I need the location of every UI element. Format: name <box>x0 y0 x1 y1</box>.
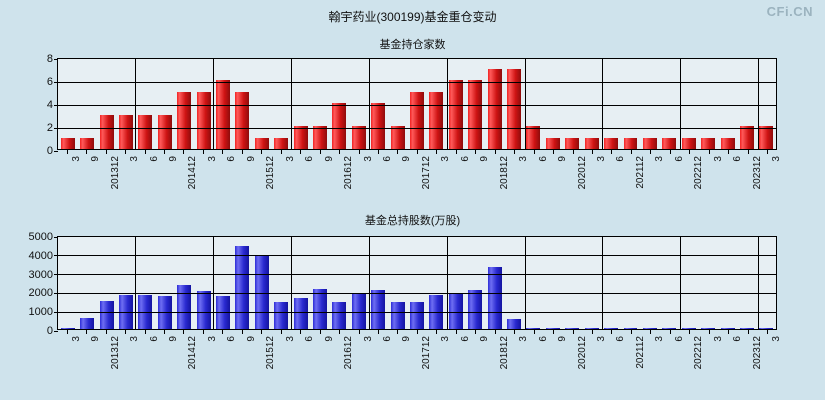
x-axis-tick: 9 <box>543 330 562 376</box>
bar <box>585 328 599 329</box>
bar <box>546 328 560 329</box>
bar <box>449 80 463 149</box>
bar <box>410 302 424 329</box>
x-axis-tick-mark <box>514 330 515 334</box>
bar <box>526 126 540 149</box>
x-axis-tick: 201412 <box>174 330 193 376</box>
gridline-vertical <box>213 59 214 149</box>
x-axis-tick: 9 <box>76 330 95 376</box>
x-axis-tick-mark <box>475 150 476 154</box>
x-axis-tick: 9 <box>232 330 251 376</box>
x-axis-tick-mark <box>67 330 68 334</box>
x-axis-tick: 6 <box>602 330 621 376</box>
bar <box>682 138 696 150</box>
x-axis-tick-mark <box>611 330 612 334</box>
bar-slot <box>582 237 601 329</box>
bar <box>100 301 114 329</box>
bar <box>740 328 754 329</box>
bar <box>604 138 618 150</box>
x-axis-tick-mark <box>534 330 535 334</box>
x-axis-tick-mark <box>183 330 184 334</box>
x-axis-tick-mark <box>456 330 457 334</box>
x-axis-tick-mark <box>67 150 68 154</box>
x-axis-tick: 202012 <box>563 330 582 376</box>
x-axis-tick-mark <box>397 150 398 154</box>
x-axis-tick: 9 <box>388 330 407 376</box>
x-axis-tick: 6 <box>368 150 387 196</box>
bar-slot <box>524 237 543 329</box>
x-axis-tick-mark <box>339 330 340 334</box>
bar-slot <box>698 237 717 329</box>
bar <box>701 328 715 329</box>
bar <box>410 92 424 150</box>
x-axis-tick: 3 <box>582 330 601 376</box>
x-axis-tick-mark <box>106 150 107 154</box>
x-axis-tick-mark <box>748 330 749 334</box>
x-axis-tick: 3 <box>427 330 446 376</box>
x-axis-tick-mark <box>125 150 126 154</box>
bar-slot <box>466 237 485 329</box>
gridline-vertical <box>525 59 526 149</box>
bar <box>61 328 75 329</box>
bar <box>662 138 676 150</box>
x-axis-tick-mark <box>261 150 262 154</box>
x-axis-tick: 9 <box>466 330 485 376</box>
x-axis-tick: 201712 <box>407 150 426 196</box>
bar <box>235 92 249 150</box>
x-axis-tick-label: 3 <box>771 336 782 342</box>
x-axis-tick-mark <box>242 330 243 334</box>
x-axis-tick: 9 <box>310 330 329 376</box>
top-x-axis: 3920131236920141236920151236920161236920… <box>57 150 777 196</box>
x-axis-tick: 3 <box>193 150 212 196</box>
bar-slot <box>388 237 407 329</box>
x-axis-tick: 6 <box>524 330 543 376</box>
x-axis-tick: 3 <box>271 150 290 196</box>
x-axis-tick: 202012 <box>563 150 582 196</box>
x-axis-tick: 3 <box>57 150 76 196</box>
x-axis-tick: 6 <box>290 150 309 196</box>
bar <box>546 138 560 150</box>
x-axis-tick: 3 <box>504 150 523 196</box>
bar <box>468 290 482 329</box>
gridline-vertical <box>525 237 526 329</box>
x-axis-tick: 201512 <box>252 150 271 196</box>
x-axis-tick-mark <box>748 150 749 154</box>
x-axis-tick-mark <box>728 150 729 154</box>
gridline-vertical <box>758 59 759 149</box>
x-axis-tick-mark <box>495 150 496 154</box>
x-axis-tick: 6 <box>446 330 465 376</box>
gridline-vertical <box>291 237 292 329</box>
x-axis-tick-mark <box>378 330 379 334</box>
bar-slot <box>446 237 465 329</box>
x-axis-tick-mark <box>689 330 690 334</box>
x-axis-tick: 6 <box>368 330 387 376</box>
bar <box>391 302 405 329</box>
bar-slot <box>77 237 96 329</box>
bar <box>255 138 269 150</box>
x-axis-tick-mark <box>359 150 360 154</box>
bar-slot <box>174 237 193 329</box>
bottom-plot-area: 010002000300040005000 <box>57 236 777 330</box>
x-axis-tick-mark <box>300 330 301 334</box>
bar <box>235 246 249 329</box>
x-axis-tick: 201812 <box>485 330 504 376</box>
bar <box>119 115 133 150</box>
gridline-horizontal <box>58 82 776 83</box>
bar <box>313 126 327 149</box>
bar <box>177 285 191 329</box>
bar <box>565 328 579 329</box>
gridline-horizontal <box>58 105 776 106</box>
bar-slot <box>252 237 271 329</box>
bottom-chart-title: 基金总持股数(万股) <box>0 212 825 228</box>
x-axis-tick: 3 <box>757 150 776 196</box>
gridline-vertical <box>135 59 136 149</box>
x-axis-tick-mark <box>145 330 146 334</box>
x-axis-tick-mark <box>417 330 418 334</box>
bar-slot <box>543 237 562 329</box>
x-axis-tick: 9 <box>154 150 173 196</box>
bar-slot <box>427 237 446 329</box>
gridline-vertical <box>213 237 214 329</box>
x-axis-tick-mark <box>670 330 671 334</box>
x-axis-tick: 3 <box>349 330 368 376</box>
gridline-vertical <box>758 237 759 329</box>
y-axis-tick-mark <box>54 128 58 129</box>
bar <box>429 92 443 150</box>
x-axis-tick-mark <box>281 330 282 334</box>
x-axis-tick-mark <box>436 330 437 334</box>
bar <box>507 319 521 329</box>
x-axis-tick: 3 <box>271 330 290 376</box>
bar <box>759 328 773 329</box>
x-axis-tick-mark <box>164 150 165 154</box>
x-axis-tick-mark <box>534 150 535 154</box>
y-axis-tick-mark <box>54 293 58 294</box>
bar-slot <box>407 237 426 329</box>
x-axis-tick: 6 <box>602 150 621 196</box>
x-axis-tick: 201312 <box>96 150 115 196</box>
x-axis-tick: 3 <box>57 330 76 376</box>
bar <box>643 328 657 329</box>
bar-slot <box>310 237 329 329</box>
x-axis-tick-mark <box>709 330 710 334</box>
page-title: 翰宇药业(300199)基金重仓变动 <box>0 8 825 25</box>
x-axis-tick: 3 <box>757 330 776 376</box>
x-axis-tick: 9 <box>310 150 329 196</box>
y-axis-tick-mark <box>54 82 58 83</box>
x-axis-tick: 9 <box>76 150 95 196</box>
x-axis-tick: 3 <box>641 330 660 376</box>
bar <box>391 126 405 149</box>
bar <box>526 328 540 329</box>
gridline-horizontal <box>58 293 776 294</box>
gridline-vertical <box>602 59 603 149</box>
bar <box>624 138 638 150</box>
x-axis-tick-mark <box>709 150 710 154</box>
x-axis-tick: 201812 <box>485 150 504 196</box>
x-axis-tick-mark <box>222 150 223 154</box>
bar <box>759 126 773 149</box>
gridline-vertical <box>680 237 681 329</box>
bar <box>80 318 94 329</box>
x-axis-tick-mark <box>475 330 476 334</box>
bar <box>721 138 735 150</box>
bar <box>701 138 715 150</box>
bar <box>468 80 482 149</box>
bar <box>565 138 579 150</box>
bar <box>294 298 308 329</box>
gridline-vertical <box>369 59 370 149</box>
y-axis-tick-mark <box>54 237 58 238</box>
x-axis-tick-mark <box>553 330 554 334</box>
bar <box>643 138 657 150</box>
bottom-bar-series <box>58 237 776 329</box>
y-axis-tick-mark <box>54 59 58 60</box>
x-axis-tick: 9 <box>154 330 173 376</box>
x-axis-tick-mark <box>728 330 729 334</box>
bar-slot <box>97 237 116 329</box>
x-axis-tick-mark <box>203 150 204 154</box>
x-axis-tick-mark <box>456 150 457 154</box>
x-axis-tick-mark <box>611 150 612 154</box>
bar-slot <box>369 237 388 329</box>
x-axis-tick: 6 <box>135 150 154 196</box>
gridline-vertical <box>447 237 448 329</box>
bar <box>488 267 502 329</box>
x-axis-tick-mark <box>125 330 126 334</box>
x-axis-tick-mark <box>592 330 593 334</box>
x-axis-tick: 6 <box>524 150 543 196</box>
bar-slot <box>155 237 174 329</box>
x-axis-tick-mark <box>378 150 379 154</box>
x-axis-tick: 9 <box>543 150 562 196</box>
bar-slot <box>485 237 504 329</box>
x-axis-tick-mark <box>767 330 768 334</box>
bar-slot <box>563 237 582 329</box>
y-axis-tick-mark <box>54 274 58 275</box>
x-axis-tick-mark <box>631 150 632 154</box>
bar <box>80 138 94 150</box>
x-axis-tick: 201312 <box>96 330 115 376</box>
bar <box>624 328 638 329</box>
x-axis-tick: 3 <box>193 330 212 376</box>
gridline-horizontal <box>58 312 776 313</box>
bar <box>61 138 75 150</box>
bar <box>255 255 269 329</box>
x-axis-tick: 6 <box>213 150 232 196</box>
x-axis-tick-mark <box>86 330 87 334</box>
x-axis-tick-mark <box>320 330 321 334</box>
x-axis-tick-mark <box>183 150 184 154</box>
x-axis-tick-mark <box>650 330 651 334</box>
bar <box>158 115 172 150</box>
bar <box>682 328 696 329</box>
bar-slot <box>233 237 252 329</box>
gridline-horizontal <box>58 255 776 256</box>
bar <box>721 328 735 329</box>
x-axis-tick: 201712 <box>407 330 426 376</box>
x-axis-tick-mark <box>436 150 437 154</box>
bar-slot <box>504 237 523 329</box>
x-axis-tick: 202112 <box>621 150 640 196</box>
x-axis-tick-mark <box>650 150 651 154</box>
bar <box>138 115 152 150</box>
bar-slot <box>349 237 368 329</box>
y-axis-tick-mark <box>54 105 58 106</box>
x-axis-tick-mark <box>164 330 165 334</box>
x-axis-tick-mark <box>359 330 360 334</box>
x-axis-tick-mark <box>417 150 418 154</box>
bar <box>177 92 191 150</box>
bar-slot <box>601 237 620 329</box>
bar <box>371 290 385 329</box>
bar <box>216 80 230 149</box>
y-axis-tick-mark <box>54 255 58 256</box>
x-axis-tick-mark <box>397 330 398 334</box>
gridline-vertical <box>447 59 448 149</box>
x-axis-tick-label: 3 <box>771 156 782 162</box>
x-axis-tick: 9 <box>232 150 251 196</box>
bar-slot <box>718 237 737 329</box>
bar <box>197 92 211 150</box>
bar <box>371 103 385 149</box>
x-axis-tick-mark <box>300 150 301 154</box>
x-axis-tick: 3 <box>504 330 523 376</box>
gridline-horizontal <box>58 128 776 129</box>
x-axis-tick-mark <box>573 150 574 154</box>
x-axis-tick: 6 <box>718 150 737 196</box>
x-axis-tick: 202312 <box>738 150 757 196</box>
x-axis-tick: 9 <box>388 150 407 196</box>
x-axis-tick: 3 <box>427 150 446 196</box>
x-axis-tick: 9 <box>466 150 485 196</box>
bar-slot <box>58 237 77 329</box>
bar <box>332 302 346 329</box>
x-axis-tick-mark <box>573 330 574 334</box>
bar-slot <box>640 237 659 329</box>
x-axis-tick: 201612 <box>329 150 348 196</box>
bar-slot <box>330 237 349 329</box>
x-axis-tick: 201412 <box>174 150 193 196</box>
x-axis-tick: 6 <box>718 330 737 376</box>
x-axis-tick-mark <box>242 150 243 154</box>
x-axis-tick: 3 <box>582 150 601 196</box>
x-axis-tick-mark <box>339 150 340 154</box>
gridline-vertical <box>291 59 292 149</box>
bar <box>274 138 288 150</box>
bar <box>740 126 754 149</box>
x-axis-tick-mark <box>495 330 496 334</box>
x-axis-tick: 201612 <box>329 330 348 376</box>
bar-slot <box>621 237 640 329</box>
x-axis-tick: 6 <box>290 330 309 376</box>
x-axis-tick: 6 <box>660 150 679 196</box>
x-axis-tick-mark <box>553 150 554 154</box>
x-axis-tick: 3 <box>115 330 134 376</box>
gridline-horizontal <box>58 274 776 275</box>
x-axis-tick: 202112 <box>621 330 640 376</box>
y-axis-tick-mark <box>54 312 58 313</box>
x-axis-tick: 6 <box>446 150 465 196</box>
x-axis-tick-mark <box>592 150 593 154</box>
top-plot-area: 02468 <box>57 58 777 150</box>
bar-slot <box>213 237 232 329</box>
bar <box>197 291 211 329</box>
bar <box>662 328 676 329</box>
bar-slot <box>757 237 776 329</box>
x-axis-tick-mark <box>320 150 321 154</box>
x-axis-tick-mark <box>689 150 690 154</box>
bar-slot <box>679 237 698 329</box>
x-axis-tick: 6 <box>135 330 154 376</box>
top-chart-title: 基金持仓家数 <box>0 36 825 52</box>
x-axis-tick-mark <box>631 330 632 334</box>
bar <box>274 302 288 329</box>
x-axis-tick: 3 <box>641 150 660 196</box>
x-axis-tick-mark <box>670 150 671 154</box>
x-axis-tick-mark <box>86 150 87 154</box>
bar-slot <box>271 237 290 329</box>
bar-slot <box>737 237 756 329</box>
bar <box>294 126 308 149</box>
x-axis-tick: 3 <box>115 150 134 196</box>
bar <box>352 126 366 149</box>
x-axis-tick-mark <box>767 150 768 154</box>
gridline-vertical <box>602 237 603 329</box>
x-axis-tick: 6 <box>213 330 232 376</box>
bar-slot <box>116 237 135 329</box>
x-axis-tick: 202312 <box>738 330 757 376</box>
bar <box>604 328 618 329</box>
gridline-vertical <box>680 59 681 149</box>
gridline-vertical <box>135 237 136 329</box>
bar-slot <box>660 237 679 329</box>
bar <box>100 115 114 150</box>
bar <box>313 289 327 329</box>
x-axis-tick: 202212 <box>680 330 699 376</box>
bar-slot <box>291 237 310 329</box>
x-axis-tick: 3 <box>699 330 718 376</box>
gridline-vertical <box>369 237 370 329</box>
x-axis-tick: 3 <box>349 150 368 196</box>
x-axis-tick-mark <box>222 330 223 334</box>
x-axis-tick: 3 <box>699 150 718 196</box>
x-axis-tick-mark <box>106 330 107 334</box>
bar <box>332 103 346 149</box>
x-axis-tick-mark <box>203 330 204 334</box>
x-axis-tick-mark <box>145 150 146 154</box>
x-axis-tick: 202212 <box>680 150 699 196</box>
bar <box>585 138 599 150</box>
x-axis-tick-mark <box>261 330 262 334</box>
x-axis-tick-mark <box>281 150 282 154</box>
bottom-x-axis: 3920131236920141236920151236920161236920… <box>57 330 777 376</box>
bar-slot <box>194 237 213 329</box>
x-axis-tick: 6 <box>660 330 679 376</box>
x-axis-tick: 201512 <box>252 330 271 376</box>
bar-slot <box>136 237 155 329</box>
x-axis-tick-mark <box>514 150 515 154</box>
